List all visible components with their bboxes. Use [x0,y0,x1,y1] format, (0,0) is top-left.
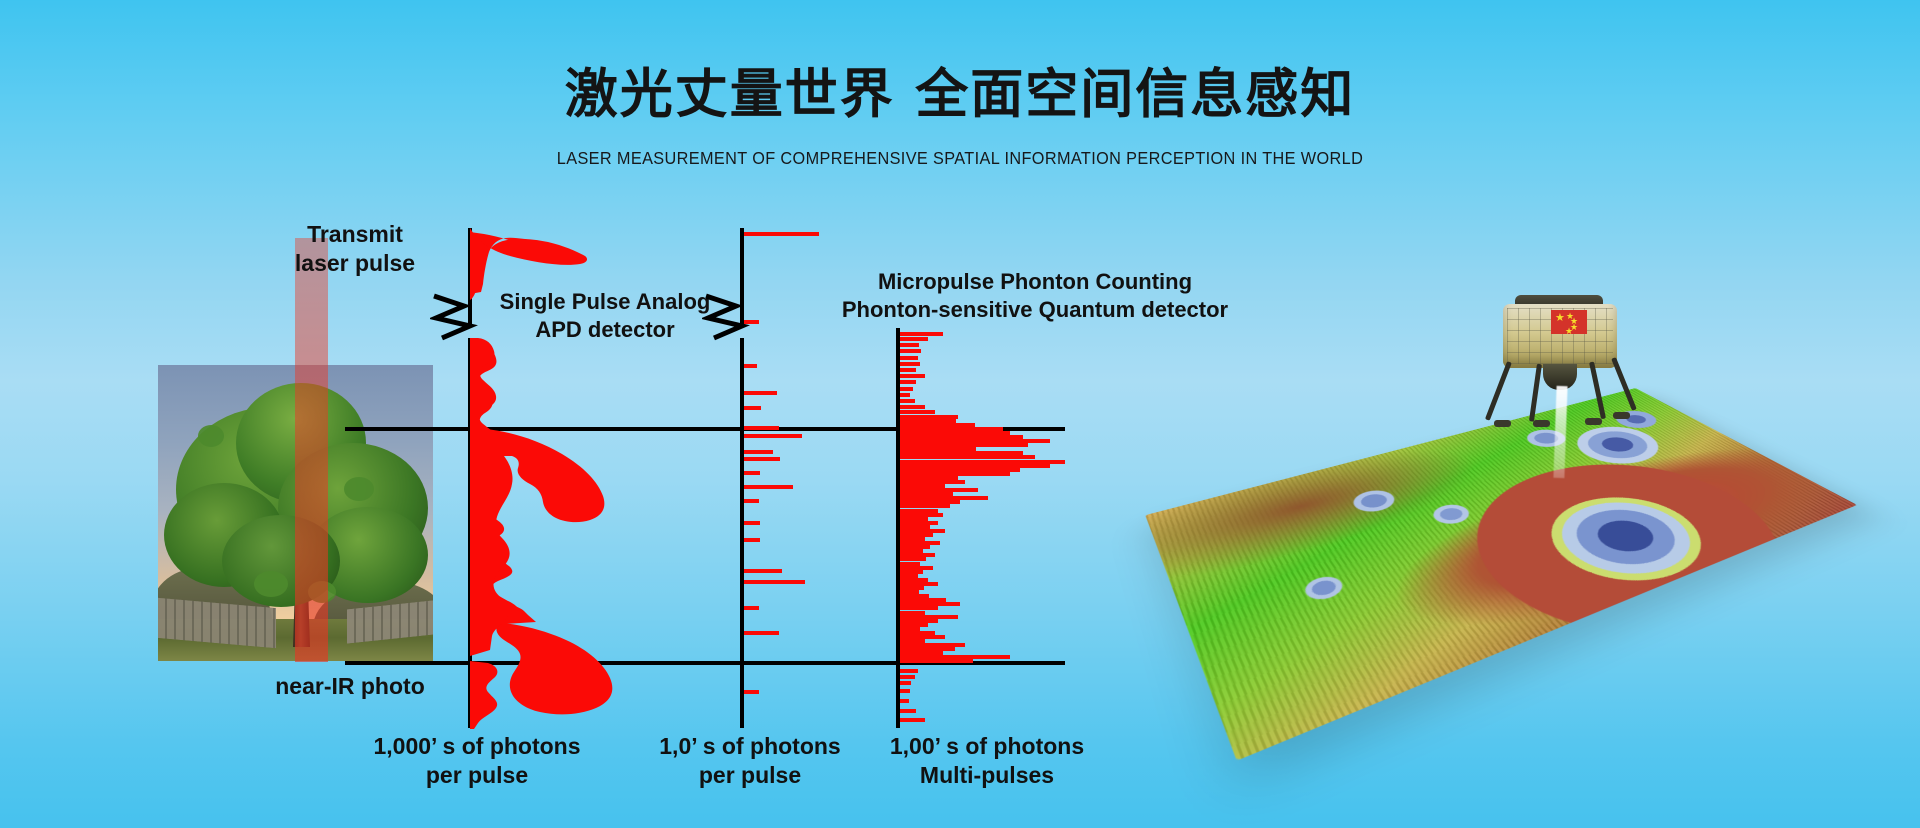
spike-bar [900,332,943,336]
spike-bar [900,659,973,663]
spike-bar [744,499,759,503]
spike-bar [744,538,760,542]
spike-bar [900,410,935,414]
spike-bar [900,374,925,378]
spike-bar [744,426,779,430]
spike-bar [900,356,918,360]
spike-bar [744,320,759,324]
spike-bar [744,391,777,395]
china-flag-icon: ★ ★ ★ ★ ★ [1551,310,1587,334]
axis-caption-3: 1,00’ s of photons Multi-pulses [862,732,1112,791]
spike-bar [900,681,911,685]
spike-bar [900,393,910,397]
page-title: 激光丈量世界 全面空间信息感知 [0,52,1920,128]
spike-bar [744,521,760,525]
spike-bar [744,631,779,635]
axis-caption-2: 1,0’ s of photons per pulse [632,732,868,791]
laser-beam-icon [295,238,328,662]
lander-leg [1485,361,1512,421]
spike-bar [900,689,910,693]
spike-bar [744,471,760,475]
page-subtitle: LASER MEASUREMENT OF COMPREHENSIVE SPATI… [67,148,1853,169]
spike-bar [900,718,925,722]
transmit-laser-pulse-label: Transmit laser pulse [260,220,450,279]
lidar-terrain-model: ★ ★ ★ ★ ★ [1195,290,1835,705]
spike-bar [900,380,916,384]
spike-bar [900,337,928,341]
spike-bar [744,450,773,454]
lander-foot [1494,420,1511,427]
spike-bar [900,709,916,713]
lander-leg [1529,364,1542,422]
lander-foot [1533,420,1550,427]
terrain-surface [1145,388,1857,761]
spike-bar [744,364,757,368]
spike-bar [744,457,780,461]
poster-canvas: 激光丈量世界 全面空间信息感知 LASER MEASUREMENT OF COM… [0,0,1920,828]
spike-bar [900,343,919,347]
leaf-cluster [198,425,224,447]
spike-bar [900,362,920,366]
spike-bar [900,699,909,703]
analog-waveform-1-tail [470,661,550,731]
spike-bar [900,399,915,403]
spike-bar [744,406,761,410]
lander-foot [1613,412,1630,419]
lunar-lander-icon: ★ ★ ★ ★ ★ [1485,290,1635,430]
spike-bar [744,690,759,694]
leaf-cluster [254,571,288,597]
spike-bar [744,485,793,489]
spike-bar [744,434,802,438]
spike-bar [900,387,913,391]
spike-bar [900,675,915,679]
lander-leg [1589,361,1606,419]
spike-bar [744,606,759,610]
lander-leg [1611,357,1637,411]
leaf-cluster [344,477,374,501]
near-ir-photo-label: near-IR photo [250,672,450,701]
spike-bar [744,569,782,573]
analog-waveform-1-main-return [470,428,670,668]
axis-caption-1: 1,000’ s of photons per pulse [352,732,602,791]
spike-bar [744,580,805,584]
spike-bar [900,349,921,353]
spike-bar [900,368,916,372]
spike-bar [744,232,819,236]
spike-bar [900,669,918,673]
dense-spike-train [900,330,1130,730]
lander-foot [1585,418,1602,425]
